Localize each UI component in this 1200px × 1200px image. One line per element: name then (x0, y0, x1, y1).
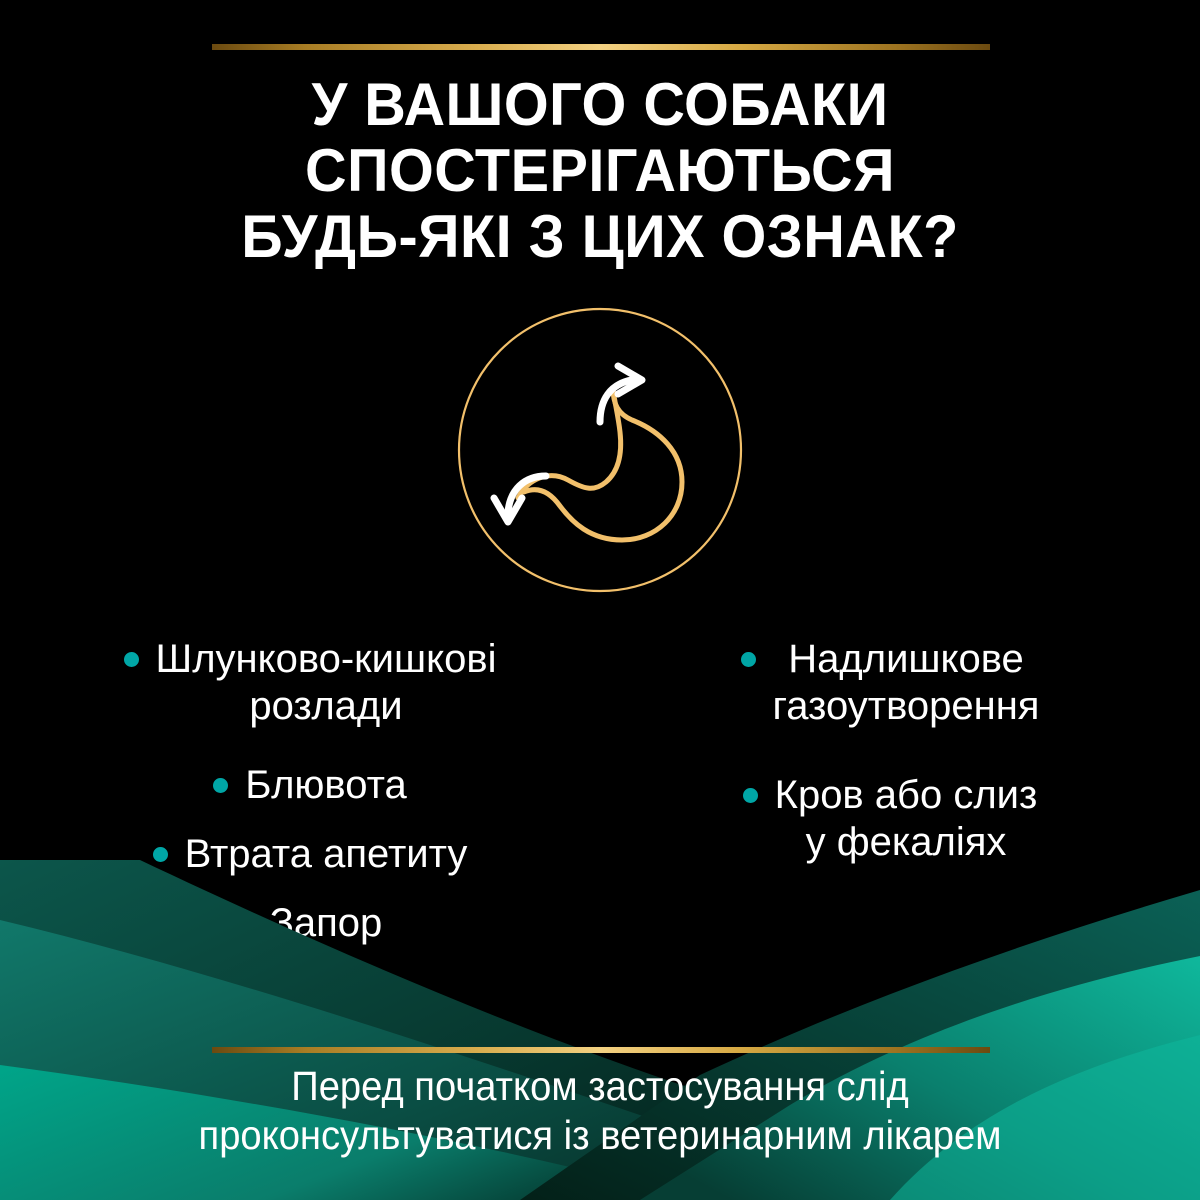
icon-ring (459, 309, 741, 591)
symptom-label: Запор (270, 900, 383, 947)
bullet-dot-icon (741, 652, 756, 667)
bullet-dot-icon (124, 652, 139, 667)
symptom-label: Шлунково-кишкові розлади (156, 636, 497, 730)
symptom-label: Кров або слиз у фекаліях (775, 772, 1038, 866)
bullet-dot-icon (213, 778, 228, 793)
infographic-poster: У ВАШОГО СОБАКИ СПОСТЕРІГАЮТЬСЯ БУДЬ-ЯКІ… (0, 0, 1200, 1200)
symptom-column-left: Шлунково-кишкові розлади Блювота Втрата … (0, 636, 600, 966)
bullet-dot-icon (743, 788, 758, 803)
gold-divider-bottom (212, 1047, 990, 1053)
bullet-dot-icon (153, 847, 168, 862)
symptom-label: Надлишкове газоутворення (773, 636, 1040, 730)
list-item: Втрата апетиту (40, 831, 580, 878)
stomach-icon (450, 300, 750, 600)
list-item: Запор (40, 900, 580, 947)
page-title: У ВАШОГО СОБАКИ СПОСТЕРІГАЮТЬСЯ БУДЬ-ЯКІ… (24, 72, 1176, 270)
list-item: Надлишкове газоутворення (620, 636, 1160, 730)
list-item: Кров або слиз у фекаліях (620, 772, 1160, 866)
footer-disclaimer: Перед початком застосування слід проконс… (42, 1062, 1158, 1160)
symptom-label: Блювота (245, 762, 406, 809)
list-item: Шлунково-кишкові розлади (40, 636, 580, 730)
output-arrow (494, 476, 546, 522)
bullet-dot-icon (238, 916, 253, 931)
symptom-list: Шлунково-кишкові розлади Блювота Втрата … (0, 636, 1200, 966)
gold-divider-top (212, 44, 990, 50)
symptom-column-right: Надлишкове газоутворення Кров або слиз у… (600, 636, 1200, 966)
symptom-label: Втрата апетиту (185, 831, 468, 878)
list-item: Блювота (40, 762, 580, 809)
